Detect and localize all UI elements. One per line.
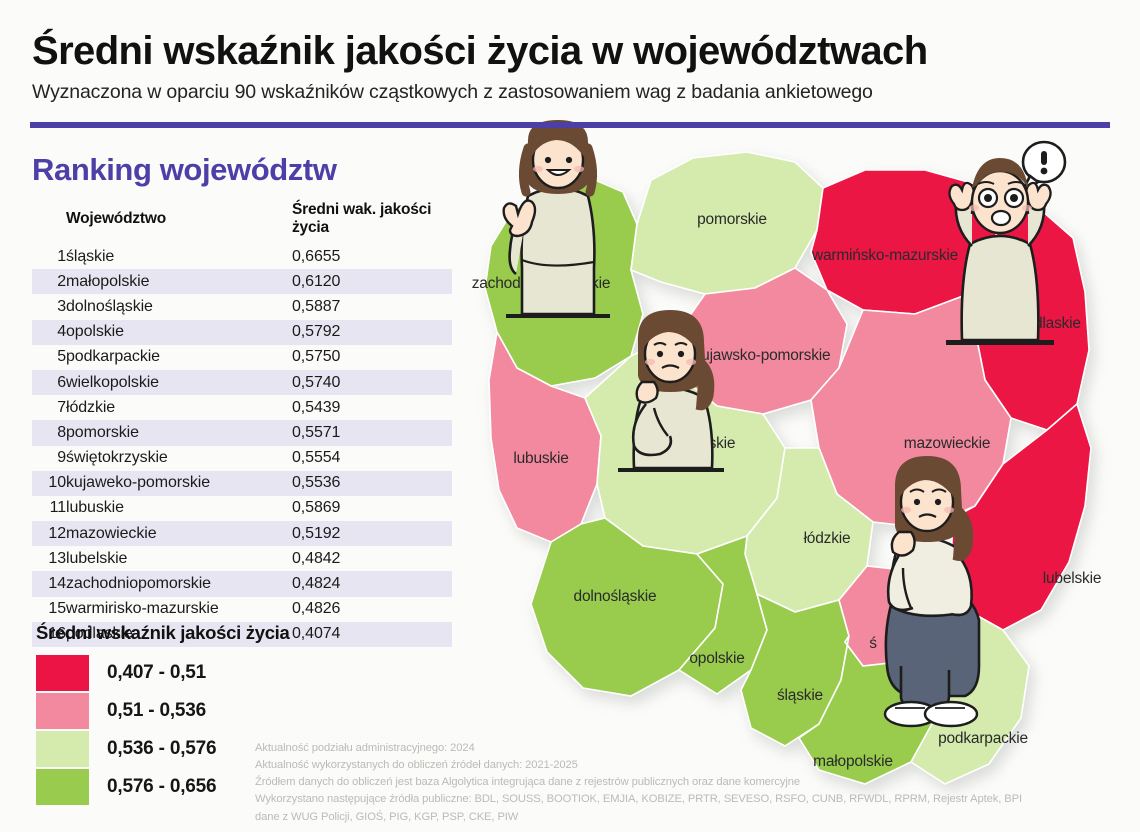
voivodeship-cell: pomorskie bbox=[66, 420, 292, 445]
value-cell: 0,4826 bbox=[292, 597, 452, 622]
rank-cell: 3 bbox=[32, 294, 66, 319]
rank-cell: 4 bbox=[32, 320, 66, 345]
legend-row[interactable]: 0,407 - 0,51 bbox=[36, 654, 336, 692]
rank-cell: 14 bbox=[32, 571, 66, 596]
legend-label: 0,407 - 0,51 bbox=[107, 662, 206, 684]
table-row[interactable]: 15warmirisko-mazurskie0,4826 bbox=[32, 597, 452, 622]
footnotes: Aktualność podziału administracyjnego: 2… bbox=[255, 740, 1140, 826]
legend-color-swatch bbox=[36, 655, 89, 691]
rank-cell: 12 bbox=[32, 521, 66, 546]
voivodeship-cell: dolnośląskie bbox=[66, 294, 292, 319]
ranking-heading: Ranking województw bbox=[32, 152, 452, 188]
value-cell: 0,5740 bbox=[292, 370, 452, 395]
character-sad-crouching-woman bbox=[855, 440, 995, 730]
value-cell: 0,5887 bbox=[292, 294, 452, 319]
value-cell: 0,5571 bbox=[292, 420, 452, 445]
voivodeship-cell: lubelskie bbox=[66, 546, 292, 571]
table-row[interactable]: 9świętokrzyskie0,5554 bbox=[32, 446, 452, 471]
voivodeship-cell: opolskie bbox=[66, 320, 292, 345]
footnote-line: Aktualność podziału administracyjnego: 2… bbox=[255, 740, 1140, 757]
voivodeship-cell: warmirisko-mazurskie bbox=[66, 597, 292, 622]
table-row[interactable]: 1śląskie0,6655 bbox=[32, 244, 452, 269]
voivodeship-cell: kujaweko-pomorskie bbox=[66, 471, 292, 496]
rank-cell: 11 bbox=[32, 496, 66, 521]
character-panicking-man bbox=[930, 140, 1070, 355]
table-row[interactable]: 13lubelskie0,4842 bbox=[32, 546, 452, 571]
rank-cell: 7 bbox=[32, 395, 66, 420]
value-cell: 0,4842 bbox=[292, 546, 452, 571]
accent-divider bbox=[30, 122, 1110, 128]
rank-cell: 9 bbox=[32, 446, 66, 471]
legend-color-swatch bbox=[36, 693, 89, 729]
character-thumbs-up-happy-woman bbox=[498, 118, 618, 328]
table-head: Województwo Średni wak. jakości życia bbox=[32, 199, 452, 244]
table-row[interactable]: 8pomorskie0,5571 bbox=[32, 420, 452, 445]
voivodeship-cell: mazowieckie bbox=[66, 521, 292, 546]
table-row[interactable]: 4opolskie0,5792 bbox=[32, 320, 452, 345]
map-label-dolnoslaskie: dolnośląskie bbox=[574, 588, 657, 605]
rank-cell: 6 bbox=[32, 370, 66, 395]
table-row[interactable]: 6wielkopolskie0,5740 bbox=[32, 370, 452, 395]
footnote-line: Wykorzystano następujące źródła publiczn… bbox=[255, 791, 1140, 808]
rank-cell: 8 bbox=[32, 420, 66, 445]
voivodeship-cell: lubuskie bbox=[66, 496, 292, 521]
table-row[interactable]: 3dolnośląskie0,5887 bbox=[32, 294, 452, 319]
legend-label: 0,51 - 0,536 bbox=[107, 700, 206, 722]
character-thinking-woman bbox=[612, 300, 730, 480]
map-label-opolskie: opolskie bbox=[689, 650, 744, 667]
map-label-slaskie: śląskie bbox=[777, 687, 823, 704]
value-cell: 0,5869 bbox=[292, 496, 452, 521]
header: Średni wskaźnik jakości życia w wojewódz… bbox=[0, 0, 1140, 104]
voivodeship-cell: wielkopolskie bbox=[66, 370, 292, 395]
legend-title: Średni wskaźnik jakości życia bbox=[36, 622, 336, 644]
map-label-pomorskie: pomorskie bbox=[697, 211, 767, 228]
table-body: 1śląskie0,66552małopolskie0,61203dolnośl… bbox=[32, 244, 452, 647]
voivodeship-cell: śląskie bbox=[66, 244, 292, 269]
voivodeship-cell: podkarpackie bbox=[66, 345, 292, 370]
voivodeship-cell: małopolskie bbox=[66, 269, 292, 294]
table-row[interactable]: 14zachodniopomorskie0,4824 bbox=[32, 571, 452, 596]
value-cell: 0,5750 bbox=[292, 345, 452, 370]
rank-cell: 10 bbox=[32, 471, 66, 496]
value-cell: 0,6120 bbox=[292, 269, 452, 294]
value-cell: 0,5792 bbox=[292, 320, 452, 345]
value-cell: 0,4824 bbox=[292, 571, 452, 596]
table-header-row: Województwo Średni wak. jakości życia bbox=[32, 199, 452, 244]
footnote-line: Aktualność wykorzystanych do obliczeń źr… bbox=[255, 757, 1140, 774]
map-label-lodzkie: łódzkie bbox=[804, 530, 851, 547]
value-cell: 0,6655 bbox=[292, 244, 452, 269]
legend-row[interactable]: 0,51 - 0,536 bbox=[36, 692, 336, 730]
footnote-line: dane z WUG Policji, GIOŚ, PIG, KGP, PSP,… bbox=[255, 809, 1140, 826]
table-row[interactable]: 7łódzkie0,5439 bbox=[32, 395, 452, 420]
footnote-line: Źródłem danych do obliczeń jest baza Alg… bbox=[255, 774, 1140, 791]
voivodeship-cell: łódzkie bbox=[66, 395, 292, 420]
table-row[interactable]: 11lubuskie0,5869 bbox=[32, 496, 452, 521]
table-row[interactable]: 2małopolskie0,6120 bbox=[32, 269, 452, 294]
ranking-table: Województwo Średni wak. jakości życia 1ś… bbox=[32, 199, 452, 647]
table-row[interactable]: 12mazowieckie0,5192 bbox=[32, 521, 452, 546]
voivodeship-cell: świętokrzyskie bbox=[66, 446, 292, 471]
rank-cell: 13 bbox=[32, 546, 66, 571]
column-header-value: Średni wak. jakości życia bbox=[292, 199, 452, 244]
rank-cell: 1 bbox=[32, 244, 66, 269]
value-cell: 0,5439 bbox=[292, 395, 452, 420]
legend-color-swatch bbox=[36, 731, 89, 767]
legend-color-swatch bbox=[36, 769, 89, 805]
table-row[interactable]: 5podkarpackie0,5750 bbox=[32, 345, 452, 370]
rank-cell: 5 bbox=[32, 345, 66, 370]
ranking-panel: Ranking województw Województwo Średni wa… bbox=[32, 152, 452, 647]
value-cell: 0,5192 bbox=[292, 521, 452, 546]
page-subtitle: Wyznaczona w oparciu 90 wskaźników cząst… bbox=[32, 81, 1110, 104]
column-header-rank bbox=[32, 199, 66, 244]
map-label-lubelskie: lubelskie bbox=[1043, 570, 1102, 587]
rank-cell: 15 bbox=[32, 597, 66, 622]
page-title: Średni wskaźnik jakości życia w wojewódz… bbox=[32, 30, 1110, 72]
column-header-voivodeship: Województwo bbox=[66, 199, 292, 244]
map-label-lubuskie: lubuskie bbox=[513, 450, 568, 467]
value-cell: 0,5554 bbox=[292, 446, 452, 471]
voivodeship-cell: zachodniopomorskie bbox=[66, 571, 292, 596]
legend-label: 0,536 - 0,576 bbox=[107, 738, 216, 760]
table-row[interactable]: 10kujaweko-pomorskie0,5536 bbox=[32, 471, 452, 496]
legend-label: 0,576 - 0,656 bbox=[107, 776, 216, 798]
value-cell: 0,5536 bbox=[292, 471, 452, 496]
rank-cell: 2 bbox=[32, 269, 66, 294]
